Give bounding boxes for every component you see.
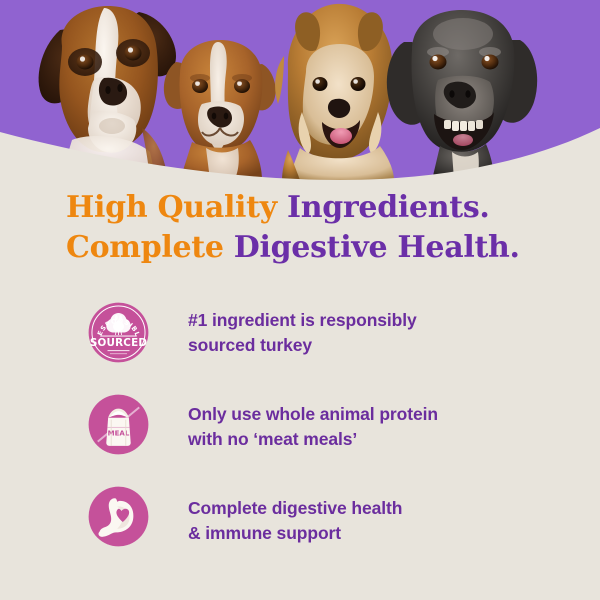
feature-item-responsibly-sourced: RESPONSIBLY SOURCED (0, 300, 600, 378)
feature-2-line-2: with no ‘meat meals’ (188, 427, 438, 452)
feature-1-line-2: sourced turkey (188, 333, 417, 358)
headline-line-2-purple: Digestive Health. (234, 230, 520, 265)
feature-text-no-meat-meals: Only use whole animal protein with no ‘m… (188, 394, 438, 452)
headline-line-2-orange: Complete (66, 230, 224, 265)
feature-3-line-2: & immune support (188, 521, 402, 546)
feed-bag: MEAL (106, 409, 130, 446)
feature-text-digestive-health: Complete digestive health & immune suppo… (188, 488, 402, 546)
feature-text-responsibly-sourced: #1 ingredient is responsibly sourced tur… (188, 300, 417, 358)
feature-item-no-meat-meals: MEAL Only use whole animal protein with … (0, 394, 600, 472)
headline: High Quality Ingredients. Complete Diges… (66, 188, 566, 268)
no-meat-meal-bag-badge: MEAL (88, 394, 149, 455)
feature-2-line-1: Only use whole animal protein (188, 402, 438, 427)
headline-line-1-purple: Ingredients. (287, 190, 490, 225)
headline-line-1-orange: High Quality (66, 190, 277, 225)
responsibly-sourced-turkey-badge: RESPONSIBLY SOURCED (88, 302, 149, 363)
feature-list: RESPONSIBLY SOURCED (0, 300, 600, 582)
pet-food-promo-card: High Quality Ingredients. Complete Diges… (0, 0, 600, 600)
badge-main-text: SOURCED (90, 337, 147, 349)
headline-line-1: High Quality Ingredients. (66, 188, 566, 228)
headline-line-2: Complete Digestive Health. (66, 228, 566, 268)
stomach-heart-digestive-badge (88, 486, 149, 547)
hero-banner (0, 0, 600, 180)
feature-3-line-1: Complete digestive health (188, 496, 402, 521)
dog-photo-group (0, 0, 600, 180)
feature-1-line-1: #1 ingredient is responsibly (188, 308, 417, 333)
feature-item-digestive-health: Complete digestive health & immune suppo… (0, 488, 600, 566)
